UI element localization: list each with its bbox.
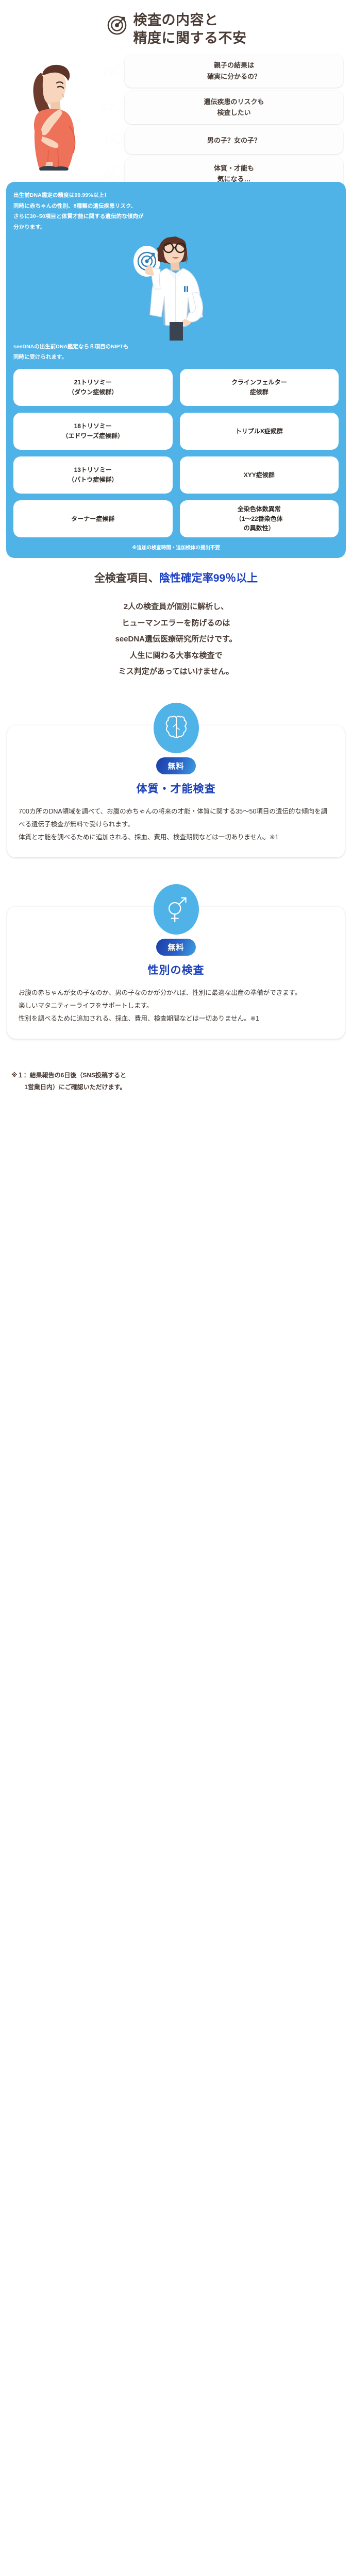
worry-bubble-list: 親子の結果は 確実に分かるの？ 遺伝疾患のリスクも 検査したい 男の子？女の子？: [101, 54, 343, 191]
condition-2-line1: クラインフェルター: [231, 378, 287, 387]
blue-sub-line2: 同時に受けられます。: [13, 352, 339, 362]
condition-3-line2: （エドワーズ症候群）: [62, 431, 124, 441]
doctor-illustration-wrap: [13, 232, 339, 341]
condition-8-line2: （1〜22番染色体: [236, 514, 283, 524]
blue-lead-line1: 出生前DNA鑑定の精度は99.99%以上！: [13, 190, 339, 200]
condition-1-line2: （ダウン症候群）: [68, 387, 118, 397]
condition-card: 全染色体数異常 （1〜22番染色体 の異数性）: [180, 500, 339, 537]
feature-card-list: 無料 体質・才能検査 700カ所のDNA領域を調べて、お腹の赤ちゃんの将来の才能…: [0, 685, 352, 1039]
condition-8-line1: 全染色体数異常: [236, 504, 283, 514]
condition-card-grid: 21トリソミー （ダウン症候群） クラインフェルター 症候群 18トリソミー （…: [13, 369, 339, 537]
brain-icon: [154, 703, 199, 753]
blue-lead-line2: 同時に赤ちゃんの性別、8種類の遺伝疾患リスク、: [13, 201, 339, 211]
statement-body-line2: ヒューマンエラーを防げるのは: [10, 615, 342, 632]
condition-3-line1: 18トリソミー: [62, 421, 124, 431]
condition-card: 18トリソミー （エドワーズ症候群）: [13, 413, 173, 450]
blue-info-panel: 出生前DNA鑑定の精度は99.99%以上！ 同時に赤ちゃんの性別、8種類の遺伝疾…: [6, 182, 346, 558]
statement-headline: 全検査項目、陰性確定率99％以上: [10, 571, 342, 585]
worry-bubble-1: 親子の結果は 確実に分かるの？: [101, 54, 343, 88]
worry-section: 親子の結果は 確実に分かるの？ 遺伝疾患のリスクも 検査したい 男の子？女の子？: [0, 54, 352, 173]
condition-card: トリプルX症候群: [180, 413, 339, 450]
bubble-text-3: 男の子？女の子？: [125, 127, 343, 154]
statement-body-line3: seeDNA遺伝医療研究所だけです。: [10, 631, 342, 648]
free-badge: 無料: [156, 757, 195, 774]
gender-icon: [154, 884, 199, 935]
thought-dots-icon: [101, 165, 125, 182]
condition-card: ターナー症候群: [13, 500, 173, 537]
page-title-line2: 精度に関する不安: [133, 29, 247, 47]
condition-card: XYY症候群: [180, 456, 339, 494]
target-icon: [106, 13, 128, 36]
blue-sub-line1: seeDNAの出生前DNA鑑定なら８項目のNIPTも: [13, 342, 339, 352]
condition-8-line3: の異数性）: [236, 523, 283, 533]
thought-dots-icon: [101, 98, 125, 116]
condition-card: クラインフェルター 症候群: [180, 369, 339, 406]
bubble-3-line1: 男の子？女の子？: [207, 135, 261, 146]
free-badge: 無料: [156, 939, 195, 956]
condition-4-line1: トリプルX症候群: [236, 427, 283, 436]
condition-6-line1: XYY症候群: [244, 470, 275, 480]
footnote-line2: 1営業日内）にご確認いただけます。: [11, 1081, 341, 1093]
condition-2-line2: 症候群: [231, 387, 287, 397]
statement-headline-plain: 全検査項目、: [94, 572, 159, 584]
statement-section: 全検査項目、陰性確定率99％以上 2人の検査員が個別に解析し、 ヒューマンエラー…: [0, 558, 352, 685]
thought-dots-icon: [101, 132, 125, 149]
blue-lead-line3: さらに30~50項目と体質才能に関する遺伝的な傾向が: [13, 211, 339, 222]
bubble-text-1: 親子の結果は 確実に分かるの？: [125, 54, 343, 88]
feature-title-gender: 性別の検査: [19, 962, 333, 977]
blue-sub-text: seeDNAの出生前DNA鑑定なら８項目のNIPTも 同時に受けられます。: [13, 342, 339, 363]
female-doctor-illustration: [122, 234, 230, 341]
worry-bubble-2: 遺伝疾患のリスクも 検査したい: [101, 91, 343, 124]
feature-description-talent: 700カ所のDNA領域を調べて、お腹の赤ちゃんの将来の才能・体質に関する35〜5…: [19, 805, 333, 844]
footnote: ※１：結果報告の6日後（SNS投稿すると 1営業日内）にご確認いただけます。: [0, 1065, 352, 1114]
statement-body: 2人の検査員が個別に解析し、 ヒューマンエラーを防げるのは seeDNA遺伝医療…: [10, 599, 342, 680]
bubble-2-line1: 遺伝疾患のリスクも: [204, 96, 264, 107]
bubble-1-line1: 親子の結果は: [207, 60, 261, 71]
condition-7-line1: ターナー症候群: [71, 514, 114, 524]
bubble-4-line1: 体質・才能も: [214, 163, 254, 174]
footnote-line1: ※１：結果報告の6日後（SNS投稿すると: [11, 1070, 341, 1081]
feature-title-talent: 体質・才能検査: [19, 781, 333, 796]
feature-card-gender: 無料 性別の検査 お腹の赤ちゃんが女の子なのか、男の子なのかが分かれば、性別に最…: [7, 884, 345, 1039]
pregnant-woman-illustration: [19, 54, 91, 171]
page-title-line1: 検査の内容と: [133, 11, 247, 29]
feature-description-gender: お腹の赤ちゃんが女の子なのか、男の子なのかが分かれば、性別に最適な出産の準備がで…: [19, 987, 333, 1025]
bubble-2-line2: 検査したい: [204, 107, 264, 118]
blue-lead-line4: 分かります。: [13, 222, 339, 232]
bubble-1-line2: 確実に分かるの？: [207, 71, 261, 82]
statement-body-line4: 人生に関わる大事な検査で: [10, 648, 342, 664]
statement-headline-accent: 陰性確定率99％以上: [159, 572, 258, 584]
condition-card: 21トリソミー （ダウン症候群）: [13, 369, 173, 406]
condition-5-line2: （パトウ症候群）: [68, 475, 118, 485]
blue-lead-text: 出生前DNA鑑定の精度は99.99%以上！ 同時に赤ちゃんの性別、8種類の遺伝疾…: [13, 190, 339, 232]
feature-card-talent: 無料 体質・才能検査 700カ所のDNA領域を調べて、お腹の赤ちゃんの将来の才能…: [7, 703, 345, 857]
page-heading: 検査の内容と 精度に関する不安: [0, 0, 352, 52]
worry-bubble-3: 男の子？女の子？: [101, 127, 343, 154]
blue-panel-note: ※追加の検査時間・追加検体の提出不要: [13, 544, 339, 553]
condition-5-line1: 13トリソミー: [68, 465, 118, 475]
condition-1-line1: 21トリソミー: [68, 378, 118, 387]
thought-dots-icon: [101, 62, 125, 80]
bubble-text-2: 遺伝疾患のリスクも 検査したい: [125, 91, 343, 124]
statement-body-line5: ミス判定があってはいけません。: [10, 664, 342, 680]
condition-card: 13トリソミー （パトウ症候群）: [13, 456, 173, 494]
page-title: 検査の内容と 精度に関する不安: [133, 11, 247, 47]
statement-body-line1: 2人の検査員が個別に解析し、: [10, 599, 342, 615]
